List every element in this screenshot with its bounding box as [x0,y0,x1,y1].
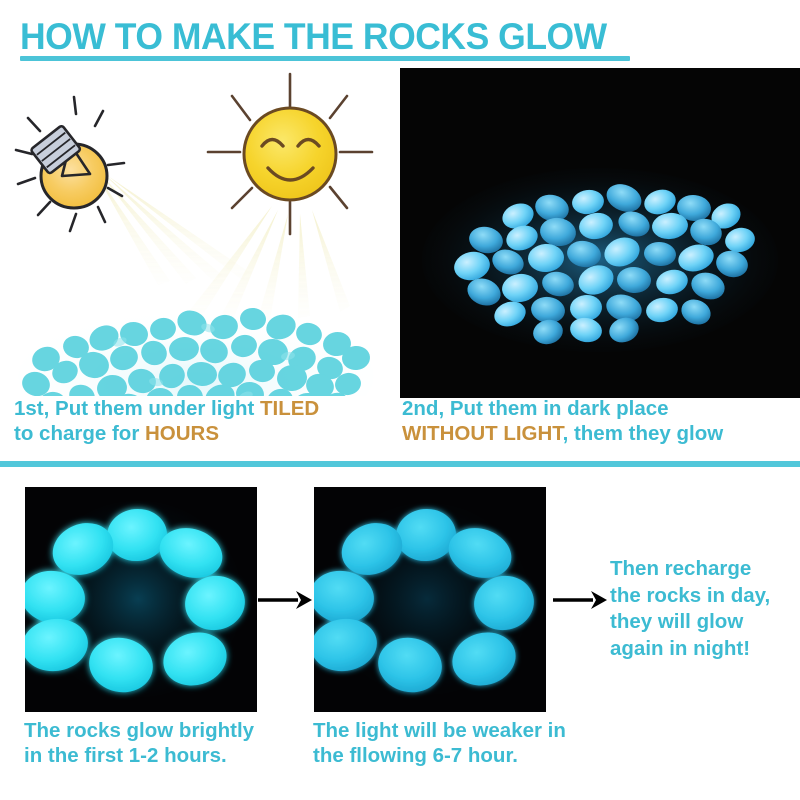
rock-pile-icon [18,306,374,396]
arrow-right-icon-1 [258,588,312,612]
section-divider [0,461,800,467]
charging-illustration [0,66,398,396]
panel-bright-caption-line2: in the first 1-2 hours. [24,743,304,768]
arrow-right-icon-2 [553,588,607,612]
panel-weak-caption: The light will be weaker in the fllowing… [313,718,613,768]
step1-highlight-hours: HOURS [145,422,219,445]
step1-caption-line2: to charge for [14,422,145,445]
step2-highlight-without-light: WITHOUT LIGHT [402,422,563,445]
sun-light-beams [190,206,350,320]
sun-icon [208,74,372,234]
final-text-line4: again in night! [610,636,800,663]
glowing-rocks-ring-bright-photo [25,487,257,712]
page-title: HOW TO MAKE THE ROCKS GLOW [20,18,692,55]
dark-glowing-rocks-photo [400,68,800,398]
step1-caption-line1: 1st, Put them under light [14,397,260,420]
step2-caption-line1: 2nd, Put them in dark place [402,396,796,421]
panel-weak-caption-line1: The light will be weaker in [313,718,613,743]
final-instruction-text: Then recharge the rocks in day, they wil… [610,556,800,663]
glowing-rocks-ring-weak-photo [314,487,546,712]
panel-bright-caption-line1: The rocks glow brightly [24,718,304,743]
panel-bright-caption: The rocks glow brightly in the first 1-2… [24,718,304,768]
step2-caption: 2nd, Put them in dark place WITHOUT LIGH… [402,396,796,446]
final-text-line1: Then recharge [610,556,800,583]
step1-highlight-tiled: TILED [260,397,319,420]
title-underline-rule [20,56,630,61]
final-text-line3: they will glow [610,609,800,636]
step2-caption-line2-tail: , them they glow [563,422,724,445]
step1-caption: 1st, Put them under light TILED to charg… [14,396,394,446]
final-text-line2: the rocks in day, [610,583,800,610]
panel-weak-caption-line2: the fllowing 6-7 hour. [313,743,613,768]
lightbulb-icon [16,97,124,231]
